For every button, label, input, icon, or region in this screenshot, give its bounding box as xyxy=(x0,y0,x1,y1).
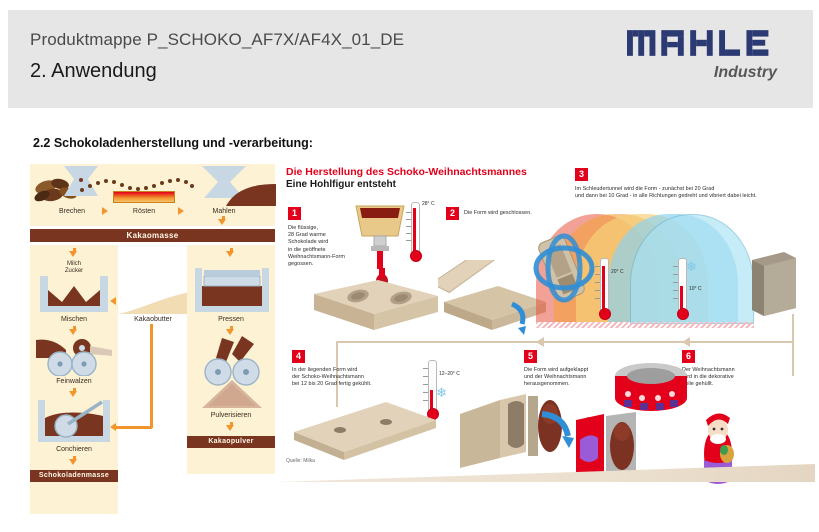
arrow-to-mischen xyxy=(69,251,77,257)
thermo-tick xyxy=(673,266,678,267)
band-kakaomasse: Kakaomasse xyxy=(30,229,275,242)
step-number-5: 5 xyxy=(524,350,537,363)
flow-arrowhead-step3-to-step4 xyxy=(536,337,544,347)
step-number-1: 1 xyxy=(288,207,301,220)
stage-label-kakaobutter: Kakaobutter xyxy=(118,316,188,323)
infographic-title: Die Herstellung des Schoko-Weihnachtsman… xyxy=(286,166,527,178)
thermo-tick xyxy=(406,240,411,241)
thermo-tick xyxy=(406,226,411,227)
thermo-tick xyxy=(406,219,411,220)
thermometer-tunnel-cold-bulb xyxy=(677,308,689,320)
thermo-tick xyxy=(595,290,600,291)
thermometer-tunnel-warm-label: 20° C xyxy=(611,269,624,275)
label-milch-zucker: MilchZucker xyxy=(42,261,106,275)
step-text-4: In der liegenden Form wird der Schoko-We… xyxy=(292,367,422,389)
arrow-to-kakaopulver xyxy=(226,425,234,431)
thermo-tick xyxy=(423,376,428,377)
bean-stream-icon xyxy=(78,174,198,198)
arrow-kakaobutter-to-mischen xyxy=(110,297,116,305)
open-mould-icon xyxy=(306,276,446,338)
thermometer-step1-fill xyxy=(413,208,416,256)
spinning-mould-icon xyxy=(530,226,600,312)
arrow-to-schokoladenmasse xyxy=(69,459,77,465)
arrow-brechen-to-roesten xyxy=(102,207,108,215)
mixer-icon xyxy=(40,276,108,312)
step-text-6: Der Weihnachtsmann wird in die dekorativ… xyxy=(682,367,792,389)
stage-label-pressen: Pressen xyxy=(187,316,275,323)
flow-line-top-to-step4 xyxy=(338,341,794,343)
band-schokoladenmasse: Schokoladenmasse xyxy=(30,470,118,482)
arrow-to-pulverisieren xyxy=(226,329,234,335)
stage-label-mischen: Mischen xyxy=(30,316,118,323)
thermo-tick xyxy=(595,274,600,275)
pulveriser-icon xyxy=(192,336,272,408)
fine-roller-icon xyxy=(36,338,112,376)
thermo-tick xyxy=(423,368,428,369)
step-number-4: 4 xyxy=(292,350,305,363)
infographic-subtitle: Eine Hohlfigur entsteht xyxy=(286,179,396,190)
source-attribution: Quelle: Milka xyxy=(286,458,315,464)
arrow-to-pressen xyxy=(226,251,234,257)
step-number-3: 3 xyxy=(575,168,588,181)
conche-icon xyxy=(38,400,110,442)
thermometer-step1-bulb xyxy=(410,250,422,262)
thermo-tick xyxy=(595,266,600,267)
arrow-to-feinwalzen xyxy=(69,329,77,335)
cocoa-mass-pile-icon xyxy=(226,184,276,206)
band-kakaopulver: Kakaopulver xyxy=(187,436,275,448)
kakaobutter-route-stem-h xyxy=(116,426,152,429)
thermometer-step4-label: 12–20° C xyxy=(439,371,460,377)
arrow-kakaobutter-to-conchieren xyxy=(110,423,116,431)
snowflake-tunnel-icon: ❄ xyxy=(686,260,697,273)
step-text-2: Die Form wird geschlossen. xyxy=(464,210,584,217)
thermo-tick xyxy=(406,233,411,234)
header-subtitle: Produktmappe P_SCHOKO_AF7X/AF4X_01_DE xyxy=(30,30,404,50)
thermo-tick xyxy=(595,298,600,299)
step-text-3: Im Schleudertunnel wird die Form - zunäc… xyxy=(575,186,805,200)
stage-label-pulverisieren: Pulverisieren xyxy=(187,412,275,419)
stage-label-mahlen: Mahlen xyxy=(196,208,252,215)
chocolate-production-diagram: Brechen Rösten Mahlen Kakaomasse MilchZu… xyxy=(30,164,275,514)
thermo-tick xyxy=(673,282,678,283)
stage-label-conchieren: Conchieren xyxy=(30,446,118,453)
logo-subtitle-industry: Industry xyxy=(627,64,787,82)
thermometer-tunnel-cold-label: 10° C xyxy=(689,286,702,292)
tunnel-conveyor-wave xyxy=(536,322,754,328)
stage-label-roesten: Rösten xyxy=(116,208,172,215)
thermometer-tunnel-warm-bulb xyxy=(599,308,611,320)
page-title: 2. Anwendung xyxy=(30,60,157,83)
kakaobutter-route-stem-v xyxy=(150,324,153,428)
thermometer-step1-label: 28° C xyxy=(422,201,435,207)
flow-line-right-vertical xyxy=(792,314,794,376)
mahle-wordmark-icon xyxy=(627,28,788,58)
santa-production-infographic: Die Herstellung des Schoko-Weihnachtsman… xyxy=(278,164,815,514)
press-icon xyxy=(195,268,269,312)
thermo-tick xyxy=(673,298,678,299)
mahle-logo: Industry xyxy=(627,28,787,82)
stage-label-feinwalzen: Feinwalzen xyxy=(30,378,118,385)
section-heading: 2.2 Schokoladenherstellung und -verarbei… xyxy=(33,136,313,150)
step-number-2: 2 xyxy=(446,207,459,220)
closed-lying-mould-icon xyxy=(290,390,440,460)
chocolate-filler-icon xyxy=(354,202,406,272)
thermo-tick xyxy=(595,282,600,283)
tunnel-exit-cabinet-icon xyxy=(748,250,800,322)
thermo-tick xyxy=(673,290,678,291)
thermo-tick xyxy=(673,274,678,275)
arrow-mahlen-to-kakaomasse xyxy=(218,219,226,225)
arrow-roesten-to-mahlen xyxy=(178,207,184,215)
thermo-tick xyxy=(406,212,411,213)
thermo-tick xyxy=(423,384,428,385)
stage-label-brechen: Brechen xyxy=(44,208,100,215)
flow-arrowhead-mid xyxy=(682,337,690,347)
arrow-to-conchieren xyxy=(69,391,77,397)
